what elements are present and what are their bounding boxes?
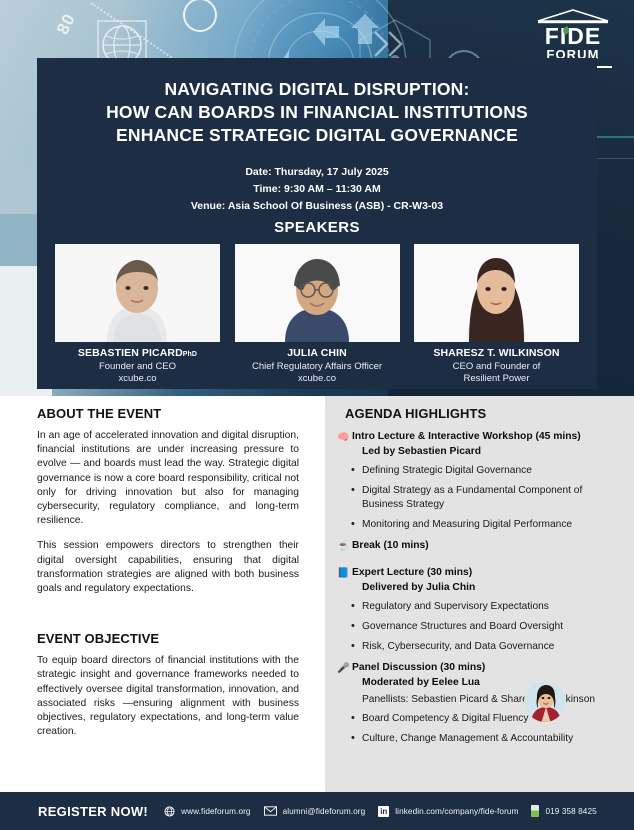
hero-light-band [0, 214, 40, 268]
speaker-role: Chief Regulatory Affairs Officer [235, 361, 400, 373]
speaker-name: SEBASTIEN PICARDPhD [55, 347, 220, 359]
speaker-photo [235, 244, 400, 342]
speaker-role: Founder and CEO [55, 361, 220, 373]
event-date: Date: Thursday, 17 July 2025 [37, 164, 597, 181]
agenda-item-list: Board Competency & Digital Fluency Cultu… [337, 712, 622, 746]
brain-icon: 🧠 [337, 430, 352, 445]
agenda-block: ☕ Break (10 mins) [337, 539, 622, 554]
footer-linkedin[interactable]: in linkedin.com/company/fide-forum [378, 806, 518, 817]
avatar [524, 681, 566, 723]
agenda-block-title: Panel Discussion (30 mins) [352, 661, 485, 675]
microphone-icon: 🎤 [337, 661, 352, 676]
objective-heading: EVENT OBJECTIVE [37, 631, 299, 646]
agenda-panellists-note: Panellists: Sebastien Picard & Sharesz T… [337, 693, 622, 707]
list-item: Monitoring and Measuring Digital Perform… [337, 518, 622, 532]
agenda-block-head: 🧠 Intro Lecture & Interactive Workshop (… [337, 430, 622, 445]
globe-icon [164, 806, 175, 817]
speaker-org: xcube.co [235, 373, 400, 385]
footer-email-text: alumni@fideforum.org [283, 807, 366, 816]
small-circle-decor [183, 0, 217, 32]
list-item: Governance Structures and Board Oversigh… [337, 620, 622, 634]
title-line-2: HOW CAN BOARDS IN FINANCIAL INSTITUTIONS [55, 101, 579, 124]
register-now-cta[interactable]: REGISTER NOW! [38, 804, 148, 819]
about-paragraph-2: This session empowers directors to stren… [37, 539, 299, 596]
about-heading: ABOUT THE EVENT [37, 406, 299, 421]
agenda-block-head: 📘 Expert Lecture (30 mins) [337, 566, 622, 581]
coffee-icon: ☕ [337, 539, 352, 554]
agenda-block-title: Intro Lecture & Interactive Workshop (45… [352, 430, 581, 444]
event-meta: Date: Thursday, 17 July 2025 Time: 9:30 … [37, 164, 597, 215]
event-time: Time: 9:30 AM – 11:30 AM [37, 181, 597, 198]
speaker-photo [414, 244, 579, 342]
footer-linkedin-text: linkedin.com/company/fide-forum [395, 807, 518, 816]
list-item: Regulatory and Supervisory Expectations [337, 600, 622, 614]
linkedin-icon: in [378, 806, 389, 817]
footer-email[interactable]: alumni@fideforum.org [264, 806, 366, 816]
speaker-name-text: SHARESZ T. WILKINSON [433, 347, 559, 359]
agenda-block-head: 🎤 Panel Discussion (30 mins) [337, 661, 622, 676]
about-paragraph-1: In an age of accelerated innovation and … [37, 429, 299, 528]
agenda-block-subtitle: Delivered by Julia Chin [337, 581, 622, 595]
footer-website-text: www.fideforum.org [181, 807, 251, 816]
book-icon: 📘 [337, 566, 352, 581]
list-item: Culture, Change Management & Accountabil… [337, 732, 622, 746]
event-flyer: 80 FIDE FORUM NAVIGATING DIGITAL DISRUPT… [0, 0, 634, 830]
speaker-name-text: JULIA CHIN [287, 347, 347, 359]
agenda-column: AGENDA HIGHLIGHTS 🧠 Intro Lecture & Inte… [325, 396, 634, 792]
speakers-panel: SPEAKERS [37, 213, 597, 389]
speaker-card: SHARESZ T. WILKINSON CEO and Founder of … [414, 244, 579, 385]
speaker-card: JULIA CHIN Chief Regulatory Affairs Offi… [235, 244, 400, 385]
footer-bar: REGISTER NOW! www.fideforum.org [0, 792, 634, 830]
title-line-3: ENHANCE STRATEGIC DIGITAL GOVERNANCE [55, 124, 579, 147]
agenda-block-subtitle: Led by Sebastien Picard [337, 445, 622, 459]
list-item: Board Competency & Digital Fluency [337, 712, 622, 726]
speaker-name: SHARESZ T. WILKINSON [414, 347, 579, 359]
temple-roof-icon [534, 9, 612, 24]
agenda-heading: AGENDA HIGHLIGHTS [337, 406, 622, 421]
title-line-1: NAVIGATING DIGITAL DISRUPTION: [55, 78, 579, 101]
agenda-block: 📘 Expert Lecture (30 mins) Delivered by … [337, 566, 622, 654]
envelope-icon [264, 806, 277, 816]
list-item: Digital Strategy as a Fundamental Compon… [337, 484, 622, 512]
agenda-block: 🧠 Intro Lecture & Interactive Workshop (… [337, 430, 622, 532]
objective-paragraph: To equip board directors of financial in… [37, 654, 299, 739]
body-columns: ABOUT THE EVENT In an age of accelerated… [0, 396, 634, 792]
speakers-heading: SPEAKERS [37, 213, 597, 236]
agenda-item-list: Defining Strategic Digital Governance Di… [337, 464, 622, 532]
logo-fide-text: FIDE [534, 24, 612, 48]
about-column: ABOUT THE EVENT In an age of accelerated… [0, 396, 325, 792]
page-title: NAVIGATING DIGITAL DISRUPTION: HOW CAN B… [37, 58, 597, 147]
speaker-org: Resilient Power [414, 373, 579, 385]
speaker-card: SEBASTIEN PICARDPhD Founder and CEO xcub… [55, 244, 220, 385]
footer-phone[interactable]: 019 358 8425 [531, 805, 596, 817]
agenda-block-title: Expert Lecture (30 mins) [352, 566, 472, 580]
speaker-name-text: SEBASTIEN PICARD [78, 347, 183, 359]
phone-icon [531, 805, 539, 817]
footer-phone-text: 019 358 8425 [545, 807, 596, 816]
list-item: Risk, Cybersecurity, and Data Governance [337, 640, 622, 654]
agenda-block-subtitle: Moderated by Eelee Lua [337, 676, 622, 690]
speaker-role: CEO and Founder of [414, 361, 579, 373]
speaker-org: xcube.co [55, 373, 220, 385]
speaker-row: SEBASTIEN PICARDPhD Founder and CEO xcub… [37, 236, 597, 385]
agenda-block-head: ☕ Break (10 mins) [337, 539, 622, 554]
agenda-item-list: Regulatory and Supervisory Expectations … [337, 600, 622, 654]
agenda-block-title: Break (10 mins) [352, 539, 429, 553]
hero-background: 80 FIDE FORUM NAVIGATING DIGITAL DISRUPT… [0, 0, 634, 396]
speaker-name: JULIA CHIN [235, 347, 400, 359]
speaker-name-suffix: PhD [183, 351, 197, 358]
footer-website[interactable]: www.fideforum.org [164, 806, 251, 817]
agenda-block: 🎤 Panel Discussion (30 mins) Moderated b… [337, 661, 622, 746]
list-item: Defining Strategic Digital Governance [337, 464, 622, 478]
speaker-photo [55, 244, 220, 342]
